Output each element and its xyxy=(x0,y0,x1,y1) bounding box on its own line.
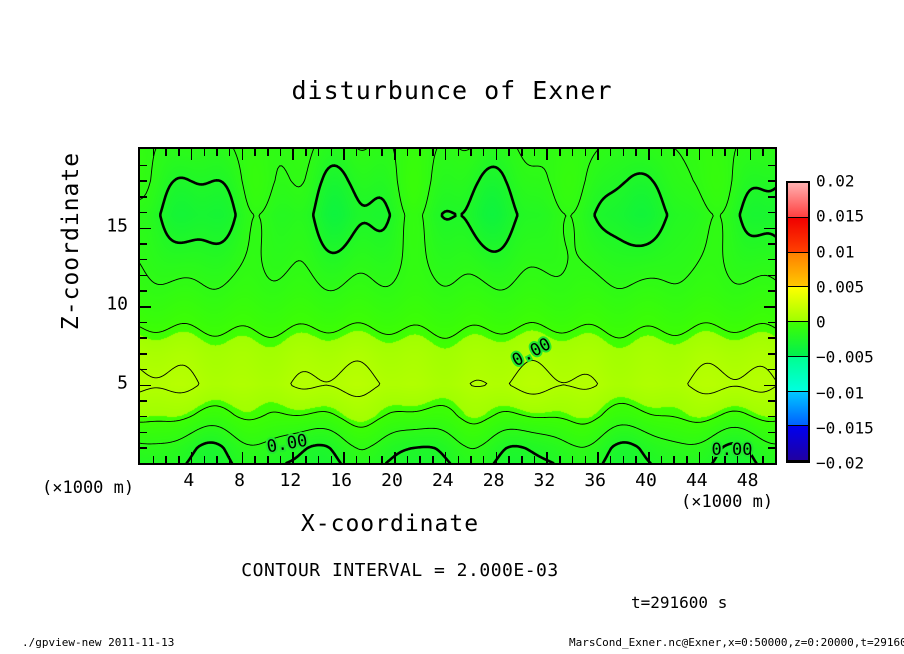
contour-interval-annotation: CONTOUR INTERVAL = 2.000E-03 xyxy=(0,560,800,581)
colorbar-band-5 xyxy=(788,357,808,392)
colorbar-label-7: −0.015 xyxy=(816,418,874,437)
x-tick-label-36: 36 xyxy=(584,470,606,491)
contour-level-0.001 xyxy=(140,149,775,450)
colorbar-band-1 xyxy=(788,218,808,253)
x-tick-label-20: 20 xyxy=(381,470,403,491)
contour-value-label: 0.00 xyxy=(712,440,753,460)
z-tick-label-10: 10 xyxy=(96,294,128,315)
colorbar[interactable] xyxy=(786,181,810,463)
colorbar-band-4 xyxy=(788,322,808,357)
page-title: disturbunce of Exner xyxy=(0,76,904,105)
contour-level-0.003 xyxy=(140,361,775,397)
colorbar-label-2: 0.01 xyxy=(816,242,855,261)
x-tick-label-8: 8 xyxy=(234,470,245,491)
footer-command-label: ./gpview-new 2011-11-13 xyxy=(22,636,174,649)
x-tick-label-48: 48 xyxy=(737,470,759,491)
colorbar-band-3 xyxy=(788,287,808,322)
x-unit-left-label: (×1000 m) xyxy=(42,478,134,498)
colorbar-label-8: −0.02 xyxy=(816,454,864,473)
colorbar-band-2 xyxy=(788,253,808,288)
colorbar-label-1: 0.015 xyxy=(816,207,864,226)
y-axis-title: Z-coordinate xyxy=(58,152,84,330)
x-axis-title: X-coordinate xyxy=(0,511,780,537)
time-annotation: t=291600 s xyxy=(631,593,727,612)
z-tick-label-5: 5 xyxy=(96,372,128,393)
x-tick-label-16: 16 xyxy=(330,470,352,491)
footer-source-label: MarsCond_Exner.nc@Exner,x=0:50000,z=0:20… xyxy=(569,636,904,649)
colorbar-band-6 xyxy=(788,392,808,427)
x-tick-label-28: 28 xyxy=(483,470,505,491)
contour-level-0 xyxy=(160,166,775,463)
colorbar-label-4: 0 xyxy=(816,313,826,332)
x-tick-label-24: 24 xyxy=(432,470,454,491)
contour-level-0.002 xyxy=(140,322,775,427)
contour-lines-layer: 0.000.000.00 xyxy=(140,149,775,463)
x-tick-label-44: 44 xyxy=(686,470,708,491)
contour-plot-area[interactable]: 0.000.000.00 xyxy=(138,147,777,465)
colorbar-label-5: −0.005 xyxy=(816,348,874,367)
x-tick-label-4: 4 xyxy=(183,470,194,491)
contour-value-label: 0.00 xyxy=(509,334,555,371)
svg-text:0.00: 0.00 xyxy=(712,440,753,460)
svg-text:0.00: 0.00 xyxy=(509,334,555,371)
x-tick-label-32: 32 xyxy=(534,470,556,491)
colorbar-band-8 xyxy=(788,461,808,463)
x-unit-right-label: (×1000 m) xyxy=(681,492,773,512)
colorbar-label-0: 0.02 xyxy=(816,172,855,191)
gpview-plot-window: disturbunce of Exner 0.000.000.00 481216… xyxy=(0,0,904,654)
x-tick-label-12: 12 xyxy=(280,470,302,491)
colorbar-band-0 xyxy=(788,183,808,218)
colorbar-label-6: −0.01 xyxy=(816,383,864,402)
z-tick-label-15: 15 xyxy=(96,215,128,236)
x-tick-label-40: 40 xyxy=(635,470,657,491)
colorbar-band-7 xyxy=(788,426,808,461)
colorbar-label-3: 0.005 xyxy=(816,277,864,296)
